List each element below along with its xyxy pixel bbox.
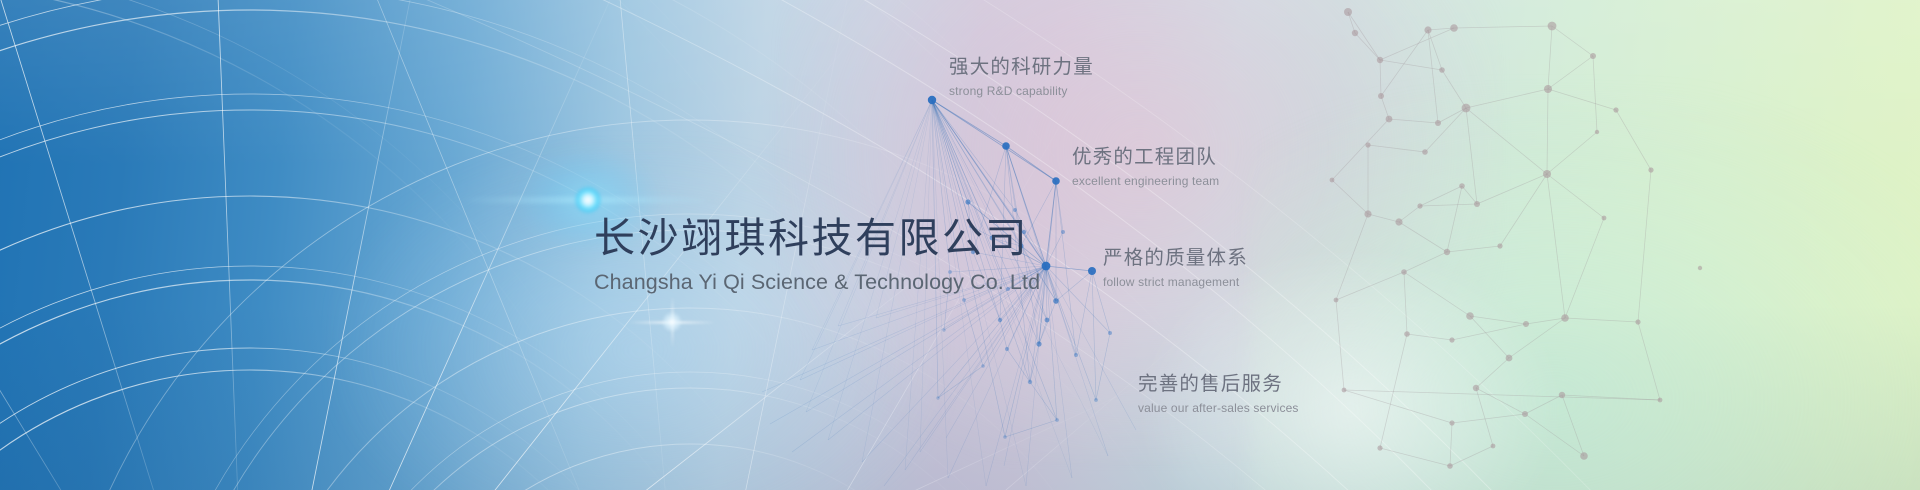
company-title-block: 长沙翊琪科技有限公司 Changsha Yi Qi Science & Tech…	[594, 218, 1040, 294]
feature-caption-cn: 完善的售后服务	[1138, 367, 1299, 396]
sparkle-core-icon	[663, 313, 681, 331]
hero-banner: 长沙翊琪科技有限公司 Changsha Yi Qi Science & Tech…	[0, 0, 1920, 490]
feature-caption-en: excellent engineering team	[1072, 174, 1219, 188]
company-name-cn: 长沙翊琪科技有限公司	[594, 218, 1040, 259]
feature-caption-4: 完善的售后服务value our after-sales services	[1138, 367, 1299, 415]
feature-caption-cn: 优秀的工程团队	[1072, 140, 1219, 169]
feature-caption-2: 优秀的工程团队excellent engineering team	[1072, 140, 1219, 188]
feature-caption-cn: 强大的科研力量	[949, 50, 1094, 79]
feature-caption-en: value our after-sales services	[1138, 401, 1299, 415]
company-name-en: Changsha Yi Qi Science & Technology Co. …	[594, 272, 1040, 294]
flare-core-icon	[575, 187, 601, 213]
feature-caption-cn: 严格的质量体系	[1103, 241, 1248, 270]
feature-caption-1: 强大的科研力量strong R&D capability	[949, 50, 1094, 98]
feature-caption-3: 严格的质量体系follow strict management	[1103, 241, 1248, 289]
feature-caption-en: strong R&D capability	[949, 84, 1094, 98]
feature-caption-en: follow strict management	[1103, 275, 1248, 289]
